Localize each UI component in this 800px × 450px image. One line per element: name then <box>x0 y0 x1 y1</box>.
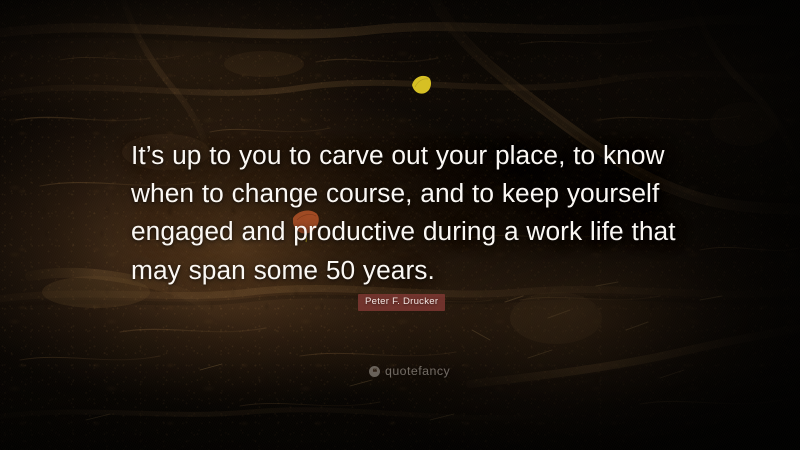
quote-text: It’s up to you to carve out your place, … <box>131 136 679 289</box>
author-attribution: Peter F. Drucker <box>358 294 445 311</box>
quotefancy-watermark[interactable]: ❝ quotefancy <box>369 365 450 377</box>
quote-mark-badge-icon: ❝ <box>369 366 380 377</box>
watermark-label: quotefancy <box>385 365 450 377</box>
poster-content: It’s up to you to carve out your place, … <box>0 0 800 450</box>
quote-glyph: ❝ <box>372 368 376 377</box>
quote-poster: It’s up to you to carve out your place, … <box>0 0 800 450</box>
